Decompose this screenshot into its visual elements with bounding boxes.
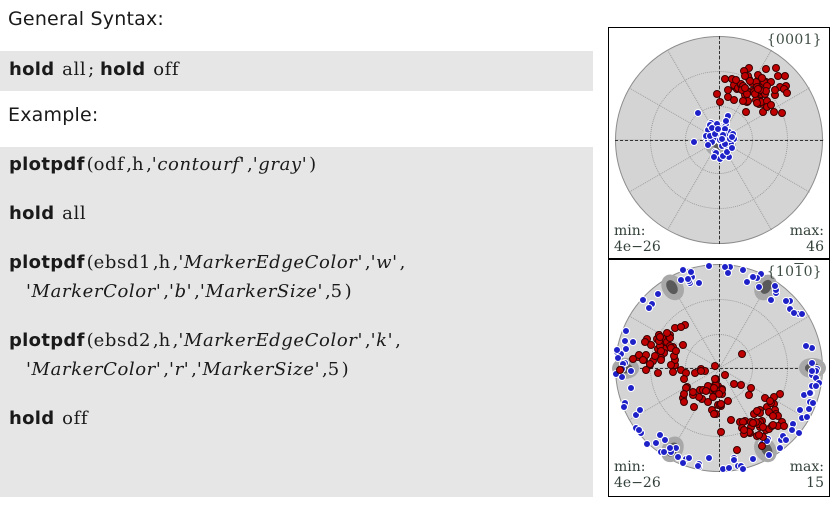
pole-figure-marker-red bbox=[753, 99, 761, 107]
example-code-line: hold off bbox=[9, 408, 90, 429]
pole-figure-marker-red bbox=[679, 341, 687, 349]
pole-figure-min-1010: min:4e−26 bbox=[614, 459, 661, 491]
pole-figure-marker-blue bbox=[695, 279, 703, 287]
code-token-id: 5 bbox=[328, 359, 340, 380]
pole-figure-panel-1010[interactable]: {1010} min:4e−26 max:15 bbox=[608, 259, 830, 497]
example-code-line: 'MarkerColor' ,'b' ,'MarkerSize' ,5 ) bbox=[26, 281, 352, 302]
pole-figure-marker-blue bbox=[622, 345, 630, 353]
pole-figure-marker-red bbox=[771, 86, 779, 94]
pole-figure-marker-blue bbox=[629, 338, 637, 346]
pole-figure-marker-blue bbox=[674, 453, 682, 461]
code-token-id: off bbox=[62, 408, 88, 429]
code-token-str: 'MarkerSize' bbox=[197, 359, 320, 380]
pole-figure-marker-blue bbox=[728, 133, 736, 141]
code-token-id: odf bbox=[94, 154, 125, 175]
example-code-line: plotpdf (ebsd2 ,h ,'MarkerEdgeColor' ,'k… bbox=[9, 330, 401, 351]
pole-figure-marker-blue bbox=[652, 439, 660, 447]
pole-figure-marker-red bbox=[737, 381, 745, 389]
code-token-str: 'k' bbox=[371, 330, 394, 351]
pole-figure-marker-red bbox=[702, 387, 710, 395]
code-token-pun: ) bbox=[342, 359, 349, 380]
code-token-str: 'MarkerSize' bbox=[200, 281, 323, 302]
pole-figure-marker-blue bbox=[656, 431, 664, 439]
pole-figure-marker-blue bbox=[679, 266, 687, 274]
pole-figure-marker-red bbox=[642, 366, 650, 374]
code-token-str: 'MarkerColor' bbox=[26, 359, 161, 380]
pole-figure-label-0001: {0001} bbox=[767, 32, 822, 48]
general-syntax-heading: General Syntax: bbox=[8, 8, 164, 30]
code-token-str: 'MarkerColor' bbox=[26, 281, 161, 302]
pole-figure-marker-blue bbox=[725, 464, 733, 472]
pole-figure-max-0001: max:46 bbox=[790, 223, 824, 255]
pole-figure-axis-vertical bbox=[719, 264, 720, 472]
general-syntax-code-block: hold all ; hold off bbox=[0, 51, 593, 91]
pole-figure-marker-blue bbox=[795, 429, 803, 437]
code-token-pun: , bbox=[395, 330, 401, 351]
code-token-pun: ( bbox=[87, 154, 94, 175]
syntax-code-line: hold all ; hold off bbox=[9, 59, 181, 80]
pole-figure-marker-blue bbox=[639, 296, 647, 304]
code-token-str: 'MarkerEdgeColor' bbox=[178, 252, 363, 273]
code-token-pun: ; bbox=[88, 59, 94, 80]
pole-figure-column: {0001} min:4e−26 max:46 {1010} min:4e−26… bbox=[608, 27, 834, 497]
pole-figure-label-1010: {1010} bbox=[767, 264, 822, 280]
pole-figure-marker-red bbox=[730, 96, 738, 104]
pole-figure-marker-blue bbox=[728, 144, 736, 152]
pole-figure-marker-blue bbox=[627, 367, 635, 375]
pole-figure-marker-blue bbox=[812, 382, 820, 390]
example-code-line: 'MarkerColor' ,'r' ,'MarkerSize' ,5 ) bbox=[26, 359, 349, 380]
pole-figure-marker-red bbox=[749, 419, 757, 427]
pole-figure-marker-blue bbox=[739, 465, 747, 473]
code-token-kw: plotpdf bbox=[9, 154, 85, 175]
pole-figure-marker-blue bbox=[705, 262, 713, 270]
pole-figure-marker-red bbox=[680, 375, 688, 383]
example-code-line: plotpdf (ebsd1 ,h ,'MarkerEdgeColor' ,'w… bbox=[9, 252, 405, 273]
code-token-pun: ( bbox=[87, 330, 94, 351]
pole-figure-marker-blue bbox=[620, 403, 628, 411]
pole-figure-marker-red bbox=[654, 369, 662, 377]
pole-figure-marker-blue bbox=[808, 367, 816, 375]
code-token-str: 'contourf' bbox=[152, 154, 245, 175]
code-token-str: 'gray' bbox=[253, 154, 308, 175]
pole-figure-marker-red bbox=[711, 375, 719, 383]
pole-figure-marker-blue bbox=[613, 346, 621, 354]
code-token-id: off bbox=[153, 59, 179, 80]
pole-figure-marker-red bbox=[769, 412, 777, 420]
code-token-kw: hold bbox=[9, 203, 54, 224]
pole-figure-marker-red bbox=[710, 410, 718, 418]
code-token-kw: hold bbox=[100, 59, 145, 80]
code-listing-column: General Syntax: hold all ; hold off Exam… bbox=[0, 0, 598, 509]
code-token-str: 'b' bbox=[169, 281, 192, 302]
pole-figure-marker-red bbox=[766, 397, 774, 405]
pole-figure-marker-blue bbox=[765, 451, 773, 459]
pole-figure-marker-blue bbox=[694, 109, 702, 117]
pole-figure-marker-blue bbox=[798, 310, 806, 318]
pole-figure-marker-red bbox=[772, 64, 780, 72]
pole-figure-marker-blue bbox=[643, 440, 651, 448]
pole-figure-marker-blue bbox=[776, 444, 784, 452]
code-token-pun: ) bbox=[309, 154, 316, 175]
code-token-kw: hold bbox=[9, 59, 54, 80]
pole-figure-marker-blue bbox=[687, 268, 695, 276]
pole-figure-marker-red bbox=[774, 72, 782, 80]
pole-figure-marker-blue bbox=[684, 275, 692, 283]
pole-figure-marker-blue bbox=[724, 269, 732, 277]
pole-figure-marker-blue bbox=[790, 309, 798, 317]
pole-figure-marker-red bbox=[755, 431, 763, 439]
example-code-line: plotpdf (odf ,h ,'contourf' ,'gray' ) bbox=[9, 154, 316, 175]
code-token-id: h bbox=[159, 252, 171, 273]
code-token-id: 5 bbox=[331, 281, 343, 302]
code-token-pun: ) bbox=[345, 281, 352, 302]
pole-figure-marker-red bbox=[690, 403, 698, 411]
code-token-id: h bbox=[159, 330, 171, 351]
pole-figure-marker-red bbox=[740, 426, 748, 434]
pole-figure-marker-blue bbox=[809, 399, 817, 407]
pole-figure-marker-blue bbox=[627, 384, 635, 392]
code-token-id: ebsd2 bbox=[94, 330, 151, 351]
code-token-kw: plotpdf bbox=[9, 330, 85, 351]
code-token-kw: plotpdf bbox=[9, 252, 85, 273]
code-token-id: h bbox=[132, 154, 144, 175]
code-token-str: 'r' bbox=[169, 359, 189, 380]
pole-figure-marker-blue bbox=[803, 413, 811, 421]
example-code-block: plotpdf (odf ,h ,'contourf' ,'gray' )hol… bbox=[0, 147, 593, 497]
pole-figure-marker-red bbox=[746, 77, 754, 85]
example-heading: Example: bbox=[8, 104, 98, 126]
pole-figure-marker-red bbox=[697, 367, 705, 375]
pole-figure-marker-red bbox=[770, 108, 778, 116]
pole-figure-max-1010: max:15 bbox=[790, 459, 824, 491]
code-token-pun: , bbox=[400, 252, 406, 273]
code-token-pun: ( bbox=[87, 252, 94, 273]
pole-figure-marker-red bbox=[672, 347, 680, 355]
pole-figure-marker-red bbox=[639, 356, 647, 364]
code-token-str: 'MarkerEdgeColor' bbox=[178, 330, 363, 351]
pole-figure-marker-blue bbox=[704, 141, 712, 149]
pole-figure-min-0001: min:4e−26 bbox=[614, 223, 661, 255]
example-code-line: hold all bbox=[9, 203, 88, 224]
pole-figure-marker-red bbox=[641, 338, 649, 346]
pole-figure-marker-blue bbox=[782, 436, 790, 444]
pole-figure-panel-0001[interactable]: {0001} min:4e−26 max:46 bbox=[608, 27, 830, 259]
code-token-id: all bbox=[62, 59, 86, 80]
pole-figure-marker-red bbox=[741, 84, 749, 92]
pole-figure-marker-blue bbox=[796, 406, 804, 414]
code-token-str: 'w' bbox=[371, 252, 398, 273]
code-token-kw: hold bbox=[9, 408, 54, 429]
code-token-id: all bbox=[62, 203, 86, 224]
code-token-id: ebsd1 bbox=[94, 252, 151, 273]
